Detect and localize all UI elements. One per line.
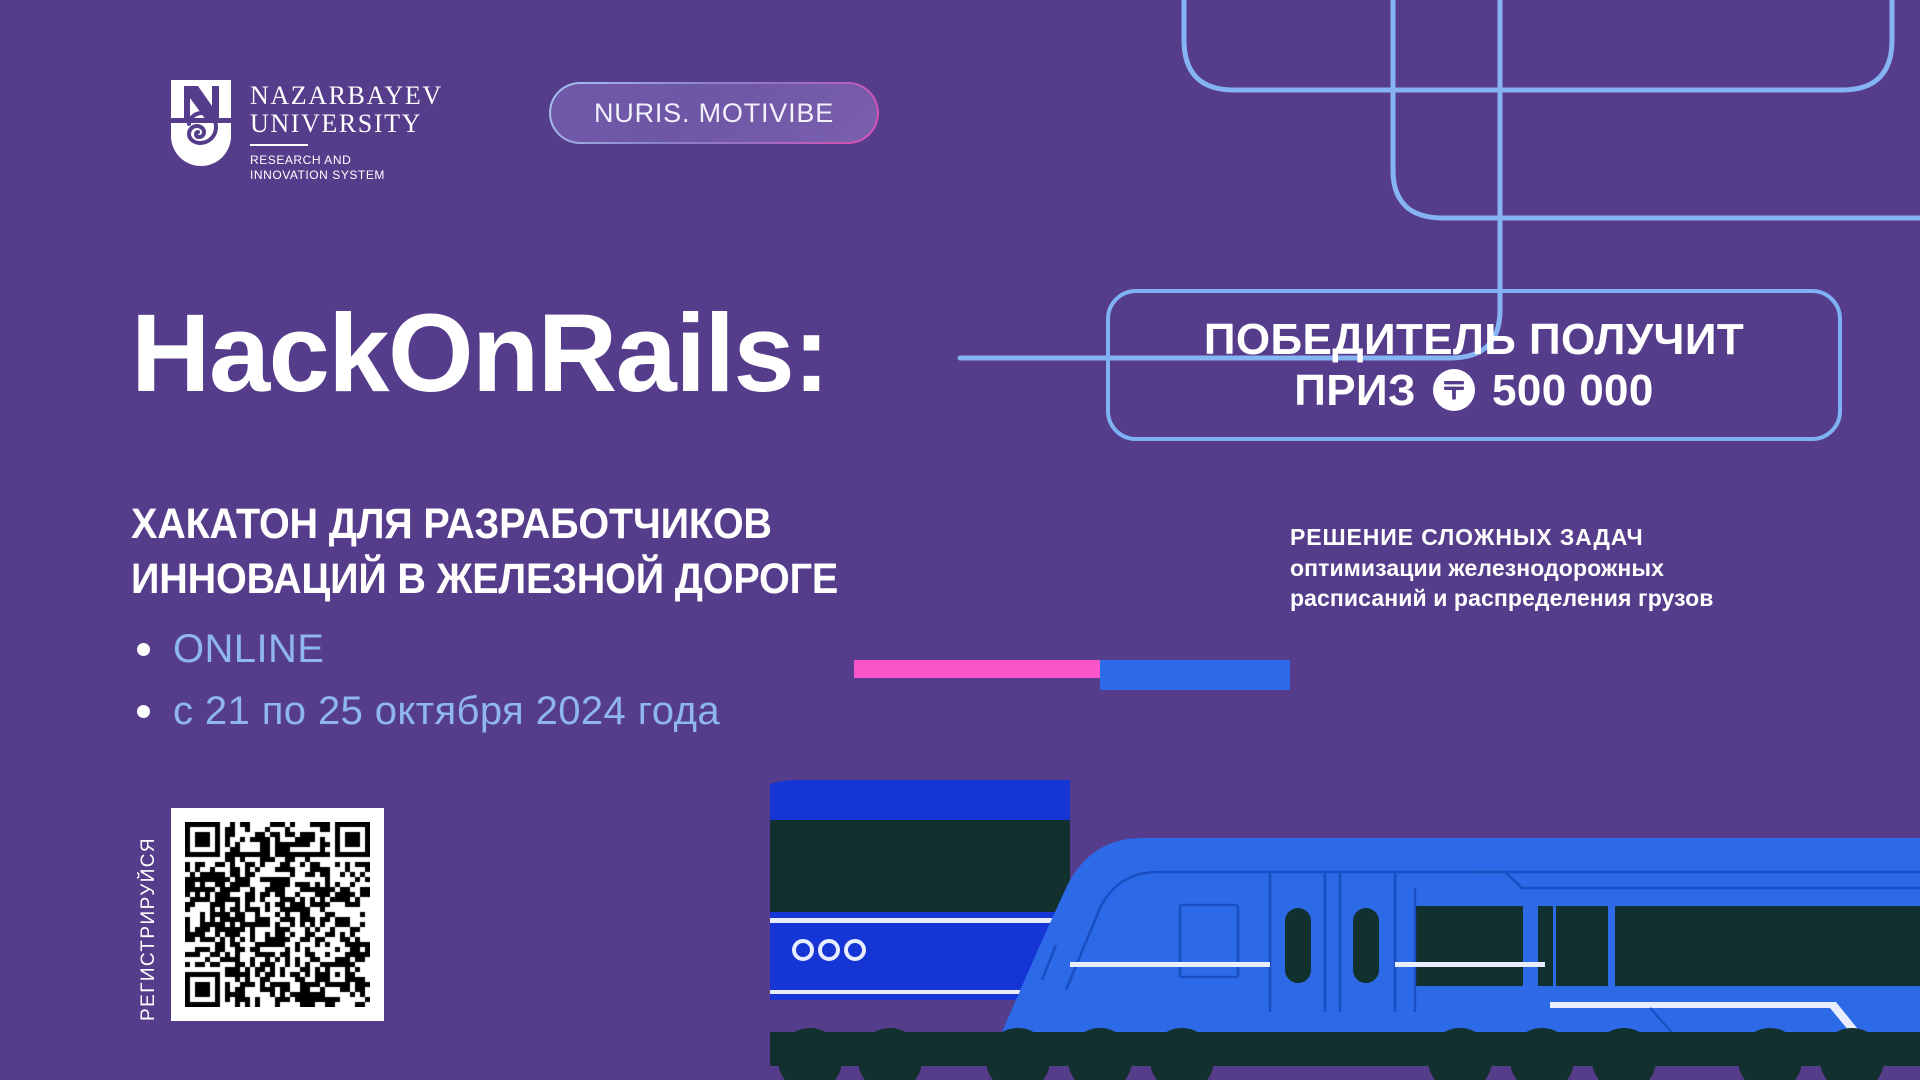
logo-sub-2: INNOVATION SYSTEM <box>250 168 443 183</box>
task-line-1: оптимизации железнодорожных <box>1290 553 1713 583</box>
train-passenger-window <box>1538 906 1608 986</box>
bullet-dot-icon <box>137 643 150 656</box>
bullet-dot-icon <box>137 705 150 718</box>
task-line-2: расписаний и распределения грузов <box>1290 583 1713 613</box>
prize-line-1: ПОБЕДИТЕЛЬ ПОЛУЧИТ <box>1204 316 1744 364</box>
train-passenger-window <box>1615 906 1920 986</box>
poster-canvas: NAZARBAYEV UNIVERSITY RESEARCH AND INNOV… <box>0 0 1920 1080</box>
register-label: РЕГИСТРИРУЙСЯ <box>138 835 160 1021</box>
logo-sub-1: RESEARCH AND <box>250 153 443 168</box>
train-rear-window-band <box>770 820 1070 912</box>
list-item: с 21 по 25 октября 2024 года <box>137 689 720 734</box>
bullet-label-dates: с 21 по 25 октября 2024 года <box>173 689 720 734</box>
subtitle-line-1: ХАКАТОН ДЛЯ РАЗРАБОТЧИКОВ <box>131 497 838 552</box>
prize-amount: 500 000 <box>1492 367 1654 415</box>
prize-line-2: ПРИЗ 500 000 <box>1294 367 1654 415</box>
train-cab-window <box>1415 906 1523 986</box>
subtitle-line-2: ИННОВАЦИЙ В ЖЕЛЕЗНОЙ ДОРОГЕ <box>131 552 838 607</box>
list-item: ONLINE <box>137 627 720 672</box>
logo-line-1: NAZARBAYEV <box>250 82 443 110</box>
task-description-block: РЕШЕНИЕ СЛОЖНЫХ ЗАДАЧ оптимизации железн… <box>1290 523 1713 614</box>
logo-line-2: UNIVERSITY <box>250 110 443 138</box>
prize-callout-box: ПОБЕДИТЕЛЬ ПОЛУЧИТ ПРИЗ 500 000 <box>1106 289 1842 441</box>
nazarbayev-university-logo: NAZARBAYEV UNIVERSITY RESEARCH AND INNOV… <box>168 78 443 182</box>
high-speed-train-illustration <box>770 660 1920 1080</box>
tenge-currency-icon <box>1433 369 1475 411</box>
train-roof-accent <box>854 660 1200 678</box>
event-details-list: ONLINE с 21 по 25 октября 2024 года <box>137 627 720 751</box>
train-door-window <box>1285 908 1311 983</box>
prize-word: ПРИЗ <box>1294 367 1416 415</box>
badge-inner: NURIS. MOTIVIBE <box>551 84 877 142</box>
nu-shield-icon <box>168 78 234 170</box>
page-subtitle: ХАКАТОН ДЛЯ РАЗРАБОТЧИКОВ ИННОВАЦИЙ В ЖЕ… <box>131 497 838 607</box>
bullet-label-format: ONLINE <box>173 627 324 672</box>
task-heading: РЕШЕНИЕ СЛОЖНЫХ ЗАДАЧ <box>1290 523 1713 553</box>
logo-divider <box>250 144 308 146</box>
train-front-body <box>1002 838 1920 1032</box>
train-door-window <box>1353 908 1379 983</box>
train-cab-panel <box>1180 905 1238 977</box>
qr-code-frame[interactable] <box>171 808 384 1021</box>
nuris-motivibe-badge[interactable]: NURIS. MOTIVIBE <box>549 82 879 144</box>
logo-wordmark: NAZARBAYEV UNIVERSITY RESEARCH AND INNOV… <box>250 78 443 182</box>
train-light-cluster <box>770 941 864 959</box>
badge-label: NURIS. MOTIVIBE <box>594 98 834 129</box>
registration-block[interactable]: РЕГИСТРИРУЙСЯ <box>138 808 384 1021</box>
train-wheels <box>770 1028 1884 1080</box>
page-title: HackOnRails: <box>131 299 828 409</box>
registration-qr-code[interactable] <box>185 822 370 1007</box>
train-chassis <box>770 1032 1920 1066</box>
train-rear-car <box>770 780 1070 952</box>
